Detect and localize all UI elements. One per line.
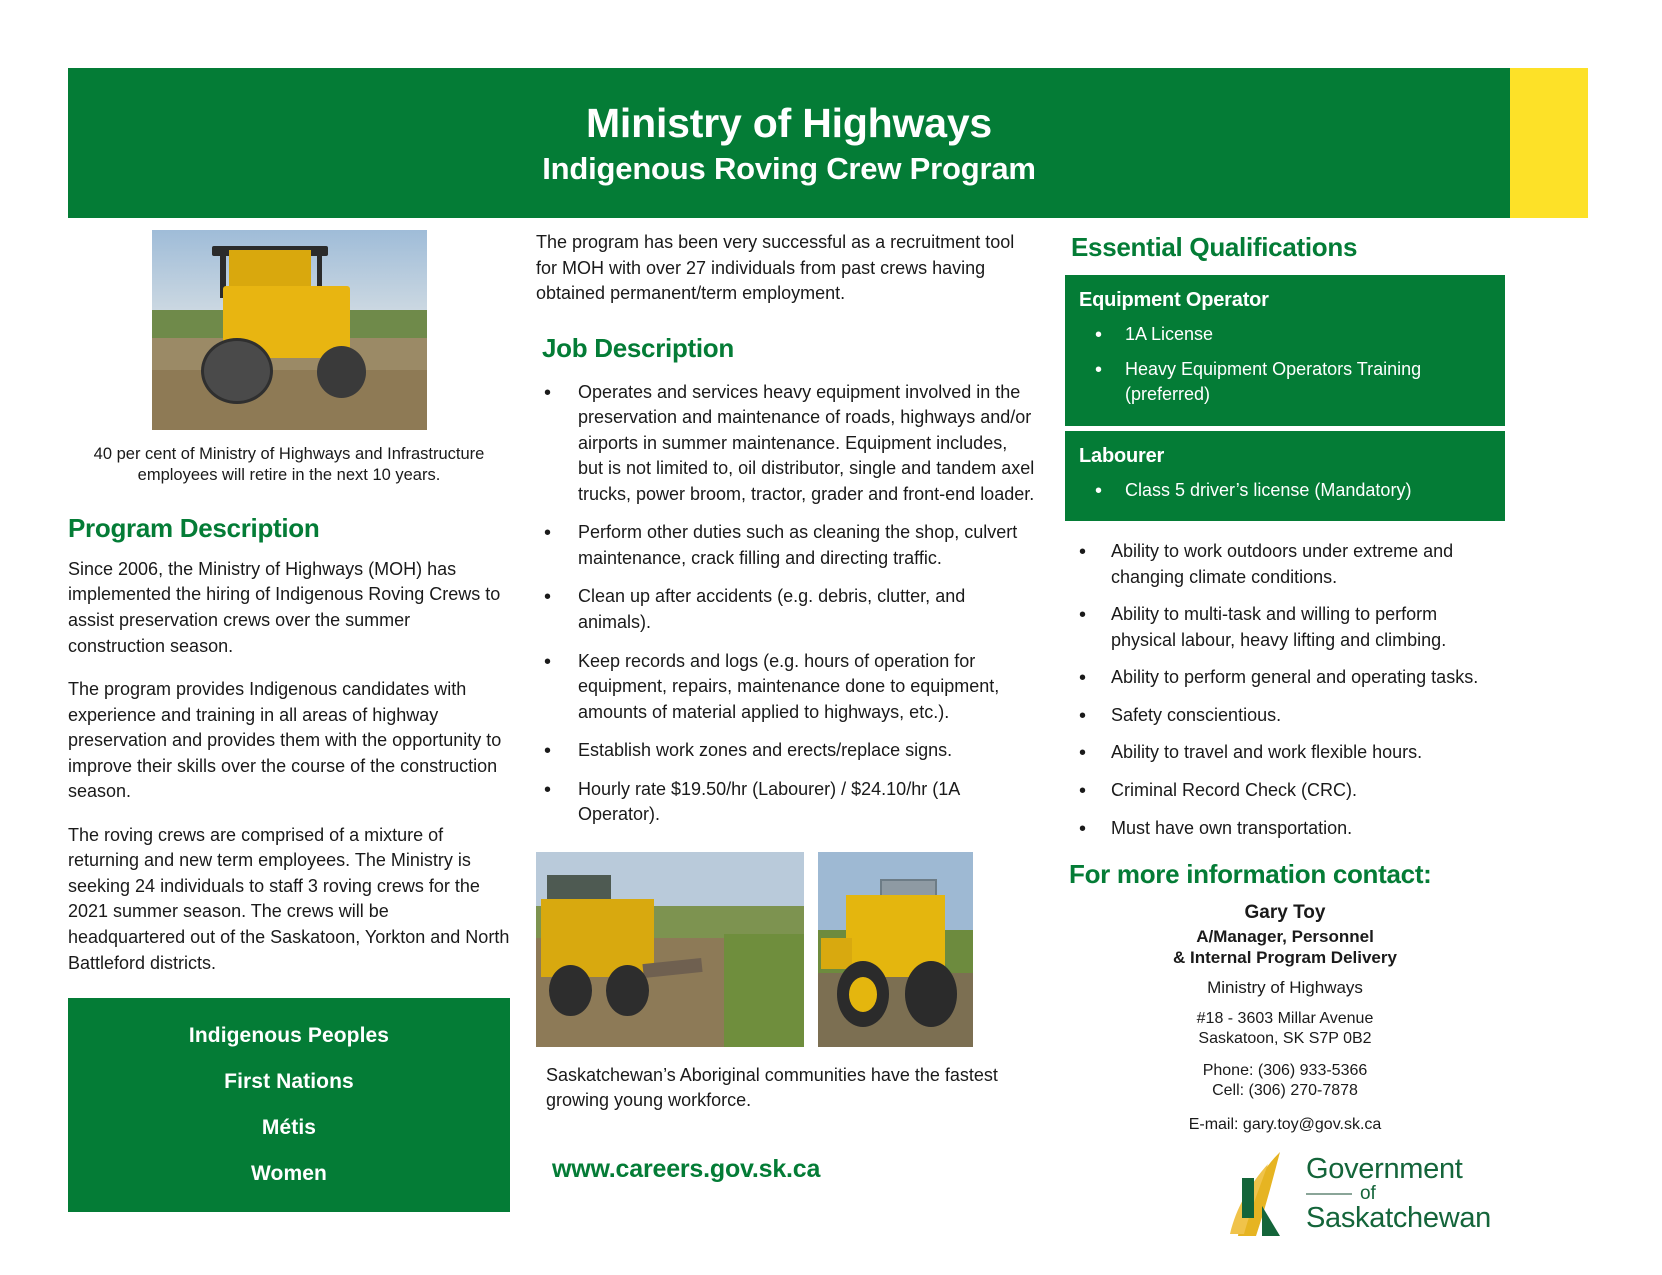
qual-item-class-5-license: Class 5 driver’s license (Mandatory) — [1079, 478, 1491, 504]
roller-rear-wheel — [317, 346, 367, 398]
qual-list-labourer: Class 5 driver’s license (Mandatory) — [1079, 478, 1491, 504]
left-photo-caption: 40 per cent of Ministry of Highways and … — [68, 444, 510, 487]
ability-work-outdoors: Ability to work outdoors under extreme a… — [1065, 539, 1505, 590]
saskatchewan-wheat-icon — [1222, 1148, 1296, 1240]
right-column: Essential Qualifications Equipment Opera… — [1065, 222, 1505, 1240]
logo-divider-rule — [1306, 1193, 1352, 1195]
qualification-group-labourer: Labourer Class 5 driver’s license (Manda… — [1065, 431, 1505, 522]
ability-general-operating-tasks: Ability to perform general and operating… — [1065, 665, 1505, 691]
loader-wheel-hub — [849, 977, 877, 1012]
target-group-first-nations: First Nations — [68, 1070, 510, 1094]
contact-cell[interactable]: Cell: (306) 270-7878 — [1065, 1081, 1505, 1102]
contact-role-line-1: A/Manager, Personnel — [1065, 926, 1505, 947]
logo-line-of-row: of — [1306, 1184, 1491, 1203]
program-paragraph-3: The roving crews are comprised of a mixt… — [68, 823, 510, 976]
target-groups-box: Indigenous Peoples First Nations Métis W… — [68, 998, 510, 1212]
logo-wordmark: Government of Saskatchewan — [1306, 1155, 1491, 1234]
job-description-heading: Job Description — [542, 333, 1036, 364]
job-bullet-work-zones: Establish work zones and erects/replace … — [536, 738, 1036, 764]
poster-header: Ministry of Highways Indigenous Roving C… — [68, 68, 1588, 218]
roller-drum — [201, 338, 273, 404]
job-bullet-clean-accidents: Clean up after accidents (e.g. debris, c… — [536, 584, 1036, 635]
loader-bucket — [821, 938, 852, 969]
target-group-metis: Métis — [68, 1116, 510, 1140]
ability-own-transportation: Must have own transportation. — [1065, 816, 1505, 842]
middle-column: The program has been very successful as … — [536, 222, 1036, 1184]
ability-criminal-record-check: Criminal Record Check (CRC). — [1065, 778, 1505, 804]
government-of-saskatchewan-logo: Government of Saskatchewan — [1065, 1148, 1505, 1240]
grader-grass-right — [724, 934, 804, 1047]
program-success-intro: The program has been very successful as … — [536, 230, 1036, 307]
grader-wheel-front — [549, 965, 592, 1016]
job-bullet-records-logs: Keep records and logs (e.g. hours of ope… — [536, 649, 1036, 726]
logo-line-of: of — [1360, 1184, 1376, 1203]
qual-list-equipment-operator: 1A License Heavy Equipment Operators Tra… — [1079, 322, 1491, 408]
photo-grader — [536, 852, 804, 1047]
contact-email[interactable]: E-mail: gary.toy@gov.sk.ca — [1065, 1116, 1505, 1134]
contact-heading: For more information contact: — [1069, 859, 1505, 890]
abilities-list: Ability to work outdoors under extreme a… — [1065, 539, 1505, 841]
middle-photo-caption: Saskatchewan’s Aboriginal communities ha… — [536, 1063, 1036, 1113]
poster-subtitle: Indigenous Roving Crew Program — [542, 151, 1036, 187]
photo-road-roller — [152, 230, 427, 430]
ability-travel-flexible-hours: Ability to travel and work flexible hour… — [1065, 740, 1505, 766]
photo-dirt — [152, 370, 427, 430]
logo-line-saskatchewan: Saskatchewan — [1306, 1204, 1491, 1234]
job-description-list: Operates and services heavy equipment in… — [536, 380, 1036, 828]
header-text-block: Ministry of Highways Indigenous Roving C… — [68, 68, 1510, 218]
grader-body — [541, 899, 654, 977]
middle-photo-row — [536, 852, 1036, 1047]
job-bullet-operates-equipment: Operates and services heavy equipment in… — [536, 380, 1036, 508]
target-group-indigenous-peoples: Indigenous Peoples — [68, 1024, 510, 1048]
ability-multi-task: Ability to multi-task and willing to per… — [1065, 602, 1505, 653]
program-paragraph-2: The program provides Indigenous candidat… — [68, 677, 510, 805]
job-bullet-other-duties: Perform other duties such as cleaning th… — [536, 520, 1036, 571]
poster-canvas: Ministry of Highways Indigenous Roving C… — [0, 0, 1662, 1275]
qualification-group-equipment-operator: Equipment Operator 1A License Heavy Equi… — [1065, 275, 1505, 426]
program-paragraph-1: Since 2006, the Ministry of Highways (MO… — [68, 557, 510, 659]
left-column: 40 per cent of Ministry of Highways and … — [68, 222, 510, 1212]
logo-line-government: Government — [1306, 1155, 1491, 1185]
program-description-heading: Program Description — [68, 513, 510, 544]
contact-phone[interactable]: Phone: (306) 933-5366 — [1065, 1061, 1505, 1082]
contact-block: Gary Toy A/Manager, Personnel & Internal… — [1065, 902, 1505, 1134]
contact-address-line-1: #18 - 3603 Millar Avenue — [1065, 1009, 1505, 1029]
contact-name: Gary Toy — [1065, 902, 1505, 924]
photo-front-end-loader — [818, 852, 973, 1047]
contact-address-line-2: Saskatoon, SK S7P 0B2 — [1065, 1029, 1505, 1049]
careers-website-link[interactable]: www.careers.gov.sk.ca — [536, 1155, 1036, 1184]
header-yellow-accent — [1510, 68, 1588, 218]
contact-department: Ministry of Highways — [1065, 978, 1505, 998]
poster-title: Ministry of Highways — [586, 100, 992, 147]
target-group-women: Women — [68, 1162, 510, 1186]
job-bullet-hourly-rate: Hourly rate $19.50/hr (Labourer) / $24.1… — [536, 777, 1036, 828]
ability-safety-conscientious: Safety conscientious. — [1065, 703, 1505, 729]
qual-item-heavy-equipment-training: Heavy Equipment Operators Training (pref… — [1079, 357, 1491, 408]
essential-qualifications-heading: Essential Qualifications — [1071, 232, 1505, 263]
qual-item-1a-license: 1A License — [1079, 322, 1491, 348]
qual-group-title-equipment-operator: Equipment Operator — [1079, 289, 1491, 312]
grader-wheel-rear — [606, 965, 649, 1016]
contact-role-line-2: & Internal Program Delivery — [1065, 947, 1505, 968]
qual-group-title-labourer: Labourer — [1079, 445, 1491, 468]
